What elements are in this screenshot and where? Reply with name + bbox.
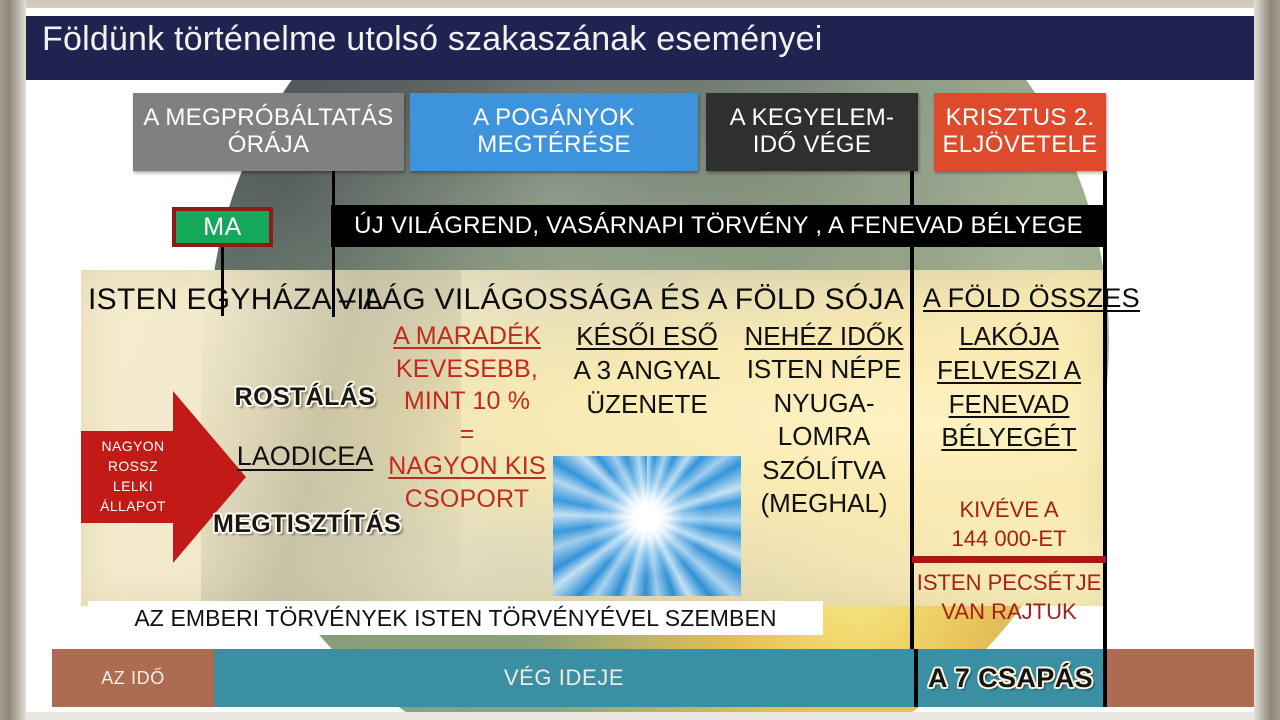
today-badge[interactable]: MA: [172, 207, 273, 247]
timeline-rule-probation-end: [910, 171, 914, 691]
latter-rain-line-2: A 3 ANGYAL: [556, 354, 738, 388]
timeline-segment-end: [1107, 649, 1254, 707]
hard-times-line-1: NEHÉZ IDŐK: [742, 320, 906, 353]
remnant-line-3: MINT 10 %: [382, 385, 552, 418]
hard-times-line-4: LOMRA: [742, 420, 906, 453]
slide-title-bar: Földünk történelme utolsó szakaszának es…: [26, 16, 1254, 80]
headline-right: A FÖLD ÖSSZES: [923, 283, 1140, 321]
slide-canvas: Földünk történelme utolsó szakaszának es…: [26, 8, 1254, 712]
mark-line-1: LAKÓJA: [916, 320, 1102, 354]
phase-box-megprobaltatas[interactable]: A MEGPRÓBÁLTATÁS ÓRÁJA: [133, 93, 404, 171]
remnant-line-5: NAGYON KIS: [382, 450, 552, 483]
column-mark-exception: KIVÉVE A 144 000-ET: [916, 495, 1102, 553]
remnant-line-4: =: [382, 418, 552, 451]
column-hard-times: NEHÉZ IDŐK ISTEN NÉPE NYUGA- LOMRA SZÓLÍ…: [742, 320, 906, 520]
black-banner: ÚJ VILÁGREND, VASÁRNAPI TÖRVÉNY , A FENE…: [331, 205, 1106, 247]
phase-box-krisztus[interactable]: KRISZTUS 2. ELJÖVETELE: [934, 93, 1106, 171]
mark-line-2: FELVESZI A: [916, 354, 1102, 388]
column-sifting-laodicea: LAODICEA: [225, 441, 385, 472]
hard-times-line-6: (MEGHAL): [742, 487, 906, 520]
timeline-segment-veg-ideje[interactable]: VÉG IDEJE: [214, 649, 914, 707]
seal-line-2: VAN RAJTUK: [916, 597, 1102, 626]
hard-times-line-3: NYUGA-: [742, 387, 906, 420]
mark-line-3: FENEVAD: [916, 388, 1102, 422]
remnant-line-1: A MARADÉK: [382, 320, 552, 353]
exception-line-2: 144 000-ET: [916, 524, 1102, 553]
phase-box-kegyelemido[interactable]: A KEGYELEM- IDŐ VÉGE: [706, 93, 918, 171]
human-laws-banner: AZ EMBERI TÖRVÉNYEK ISTEN TÖRVÉNYÉVEL SZ…: [88, 601, 823, 635]
timeline-7-plagues-label: A 7 CSAPÁS: [928, 663, 1093, 694]
column-sifting-top: ROSTÁLÁS: [225, 383, 385, 412]
latter-rain-line-1: KÉSŐI ESŐ: [556, 320, 738, 354]
timeline-rule-second-coming: [1103, 171, 1107, 691]
headline-middle: VILÁG VILÁGOSSÁGA ÉS A FÖLD SÓJA: [336, 283, 904, 321]
column-sifting-bottom: MEGTISZTÍTÁS: [213, 510, 397, 539]
mark-line-4: BÉLYEGÉT: [916, 421, 1102, 455]
arrow-label: NAGYON ROSSZ LELKI ÁLLAPOT: [83, 437, 183, 517]
column-latter-rain: KÉSŐI ESŐ A 3 ANGYAL ÜZENETE: [556, 320, 738, 421]
presentation-slide: Földünk történelme utolsó szakaszának es…: [0, 0, 1280, 720]
remnant-line-6: CSOPORT: [382, 483, 552, 516]
column-seal-of-god: ISTEN PECSÉTJE VAN RAJTUK: [916, 568, 1102, 626]
latter-rain-line-3: ÜZENETE: [556, 388, 738, 422]
seal-line-1: ISTEN PECSÉTJE: [916, 568, 1102, 597]
phase-box-poganyok[interactable]: A POGÁNYOK MEGTÉRÉSE: [410, 93, 698, 171]
timeline-segment-7-csapas[interactable]: A 7 CSAPÁS: [914, 649, 1107, 707]
hard-times-line-5: SZÓLÍTVA: [742, 454, 906, 487]
exception-line-1: KIVÉVE A: [916, 495, 1102, 524]
red-divider-bar: [912, 556, 1106, 563]
remnant-line-2: KEVESEBB,: [382, 353, 552, 386]
timeline-segment-az-ido[interactable]: AZ IDŐ: [52, 649, 214, 707]
page-title: Földünk történelme utolsó szakaszának es…: [42, 20, 822, 59]
column-remnant: A MARADÉK KEVESEBB, MINT 10 % = NAGYON K…: [382, 320, 552, 515]
column-mark-of-beast: LAKÓJA FELVESZI A FENEVAD BÉLYEGÉT: [916, 320, 1102, 455]
sun-rays-image: [553, 456, 741, 596]
hard-times-line-2: ISTEN NÉPE: [742, 353, 906, 386]
